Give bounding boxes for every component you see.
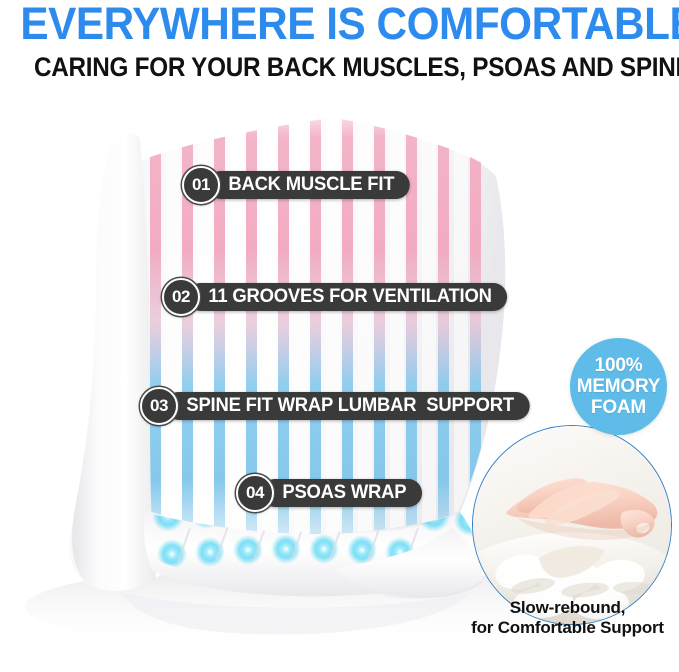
callout-02-badge: 02: [162, 278, 200, 316]
caption-line-2: for Comfortable Support: [455, 618, 679, 638]
foam-badge-line3: FOAM: [591, 397, 646, 418]
memory-foam-photo: [472, 425, 672, 625]
foam-badge-line2: MEMORY: [577, 376, 661, 397]
callout-04-badge: 04: [236, 474, 274, 512]
callout-03-label: SPINE FIT WRAP LUMBAR SUPPORT: [165, 392, 530, 420]
callout-02-label: 11 GROOVES FOR VENTILATION: [187, 283, 507, 311]
memory-foam-badge: 100% MEMORY FOAM: [570, 338, 667, 435]
left-bolster: [72, 126, 156, 591]
callout-01[interactable]: 01 BACK MUSCLE FIT: [182, 170, 416, 200]
callout-01-badge: 01: [182, 166, 220, 204]
infographic-page: EVERYWHERE IS COMFORTABLE CARING FOR YOU…: [0, 0, 679, 672]
callout-01-label: BACK MUSCLE FIT: [207, 171, 410, 199]
foam-caption: Slow-rebound, for Comfortable Support: [455, 598, 679, 638]
page-headline: EVERYWHERE IS COMFORTABLE: [20, 0, 658, 48]
callout-03[interactable]: 03 SPINE FIT WRAP LUMBAR SUPPORT: [140, 391, 541, 421]
callout-03-badge: 03: [140, 387, 178, 425]
hand-on-foam-image: [473, 426, 671, 624]
callout-04[interactable]: 04 PSOAS WRAP: [236, 478, 427, 508]
callout-04-label: PSOAS WRAP: [261, 479, 422, 507]
callout-02[interactable]: 02 11 GROOVES FOR VENTILATION: [162, 282, 517, 312]
caption-line-1: Slow-rebound,: [455, 598, 679, 618]
page-subhead: CARING FOR YOUR BACK MUSCLES, PSOAS AND …: [34, 52, 645, 82]
foam-badge-line1: 100%: [595, 355, 643, 376]
